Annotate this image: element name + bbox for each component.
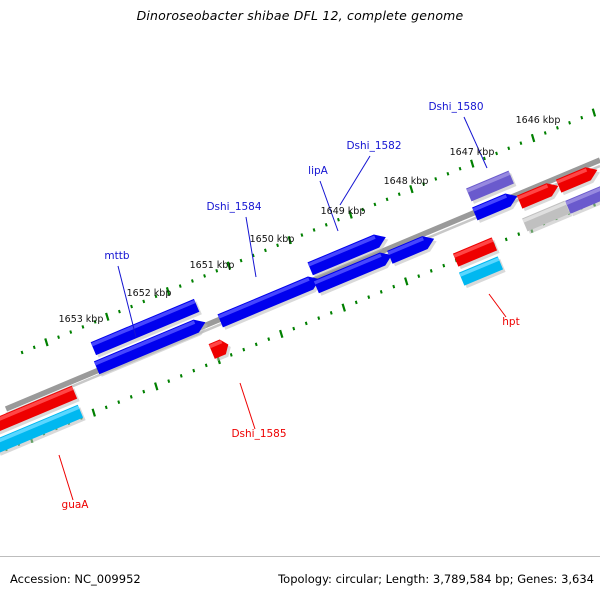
tick-dash <box>106 313 108 321</box>
gene-labels-layer[interactable]: Dshi_1580Dshi_1582lipADshi_1584mttbhptDs… <box>62 101 520 511</box>
tick-dash <box>356 301 357 304</box>
tick-label: 1649 kbp <box>321 206 366 217</box>
tick-dash <box>155 383 157 391</box>
tick-dash <box>496 152 497 155</box>
tick-dash <box>471 160 473 168</box>
tick-dash <box>314 228 315 231</box>
tick-label: 1648 kbp <box>384 176 429 187</box>
gene-label-lipA[interactable]: lipA <box>308 165 328 177</box>
tick-dash <box>518 233 519 236</box>
footer-divider <box>0 556 600 557</box>
tick-dash <box>418 275 419 278</box>
genome-viewer[interactable]: Dinoroseobacter shibae DFL 12, complete … <box>0 0 600 600</box>
tick-dash <box>268 338 269 341</box>
tick-dash <box>131 305 132 308</box>
tick-label: 1652 kbp <box>127 288 172 299</box>
tick-dash <box>243 348 244 351</box>
tick-label: 1651 kbp <box>190 260 235 271</box>
tick-dash <box>318 317 319 320</box>
gene-label-Dshi_1580[interactable]: Dshi_1580 <box>428 101 483 113</box>
tick-dash <box>532 134 534 142</box>
tick-dash <box>70 331 71 334</box>
leader-line-hpt <box>489 294 506 317</box>
feature-dshi1585[interactable] <box>209 339 231 361</box>
tick-dash <box>447 172 448 175</box>
tick-dash <box>374 203 375 206</box>
tick-dash <box>168 380 169 383</box>
tick-label: 1653 kbp <box>59 314 104 325</box>
leader-line-Dshi_1582 <box>340 156 370 205</box>
tick-dash <box>181 374 182 377</box>
tick-dash <box>393 285 394 288</box>
genome-map-canvas[interactable]: 1646 kbp1647 kbp1648 kbp1649 kbp1650 kbp… <box>0 0 600 600</box>
tick-dash <box>435 177 436 180</box>
gene-label-hpt[interactable]: hpt <box>502 316 519 328</box>
status-bar: Accession: NC_009952 Topology: circular;… <box>0 566 600 596</box>
tick-dash <box>106 406 107 409</box>
tick-dash <box>143 300 144 303</box>
gene-label-Dshi_1585[interactable]: Dshi_1585 <box>231 428 286 440</box>
tick-dash <box>265 249 266 252</box>
tick-dash <box>293 327 294 330</box>
leader-line-mttb <box>118 266 136 337</box>
tick-dash <box>280 330 282 338</box>
tick-dash <box>34 346 35 349</box>
tick-dash <box>301 234 302 237</box>
tick-dash <box>45 338 47 346</box>
feature-layer[interactable] <box>0 167 600 455</box>
tick-dash <box>338 218 339 221</box>
tick-dash <box>256 343 257 346</box>
tick-dash <box>343 304 345 312</box>
tick-dash <box>118 401 119 404</box>
tick-dash <box>331 311 332 314</box>
gene-label-Dshi_1582[interactable]: Dshi_1582 <box>346 140 401 152</box>
tick-dash <box>82 325 83 328</box>
leader-line-Dshi_1584 <box>246 217 256 277</box>
tick-dash <box>131 395 132 398</box>
tick-dash <box>520 142 521 145</box>
tick-dash <box>58 336 59 339</box>
tick-label: 1647 kbp <box>450 147 495 158</box>
tick-dash <box>231 353 232 356</box>
tick-dash <box>508 147 509 150</box>
tick-dash <box>387 198 388 201</box>
tick-dash <box>241 259 242 262</box>
tick-dash <box>326 223 327 226</box>
tick-dash <box>506 238 507 241</box>
gene-label-Dshi_1584[interactable]: Dshi_1584 <box>206 201 261 213</box>
tick-dash <box>593 109 595 117</box>
tick-dash <box>93 409 95 417</box>
feature-dshi1582[interactable] <box>387 236 436 266</box>
tick-dash <box>193 369 194 372</box>
tick-dash <box>399 193 400 196</box>
accession-label: Accession: NC_009952 <box>10 572 141 586</box>
tick-dash <box>206 364 207 367</box>
leader-line-Dshi_1580 <box>464 117 487 168</box>
tick-dash <box>405 278 407 286</box>
tick-label: 1650 kbp <box>250 234 295 245</box>
tick-dash <box>22 351 23 354</box>
tick-dash <box>143 390 144 393</box>
tick-dash <box>192 279 193 282</box>
leader-lines-layer <box>59 117 506 500</box>
tick-dash <box>368 296 369 299</box>
tick-dash <box>545 131 546 134</box>
tick-dash <box>460 167 461 170</box>
tick-dash <box>306 322 307 325</box>
tick-dash <box>119 310 120 313</box>
tick-dash <box>204 274 205 277</box>
tick-dash <box>569 121 570 124</box>
tick-dash <box>443 264 444 267</box>
leader-line-Dshi_1585 <box>240 383 255 429</box>
tick-dash <box>381 290 382 293</box>
tick-label: 1646 kbp <box>516 115 561 126</box>
feature-body[interactable] <box>217 277 319 328</box>
tick-dash <box>581 116 582 119</box>
leader-line-guaA <box>59 455 73 500</box>
gene-label-mttb[interactable]: mttb <box>104 250 129 262</box>
tick-dash <box>557 126 558 129</box>
topology-label: Topology: circular; Length: 3,789,584 bp… <box>278 572 594 586</box>
tick-dash <box>180 285 181 288</box>
tick-dash <box>431 269 432 272</box>
gene-label-guaA[interactable]: guaA <box>62 499 90 511</box>
